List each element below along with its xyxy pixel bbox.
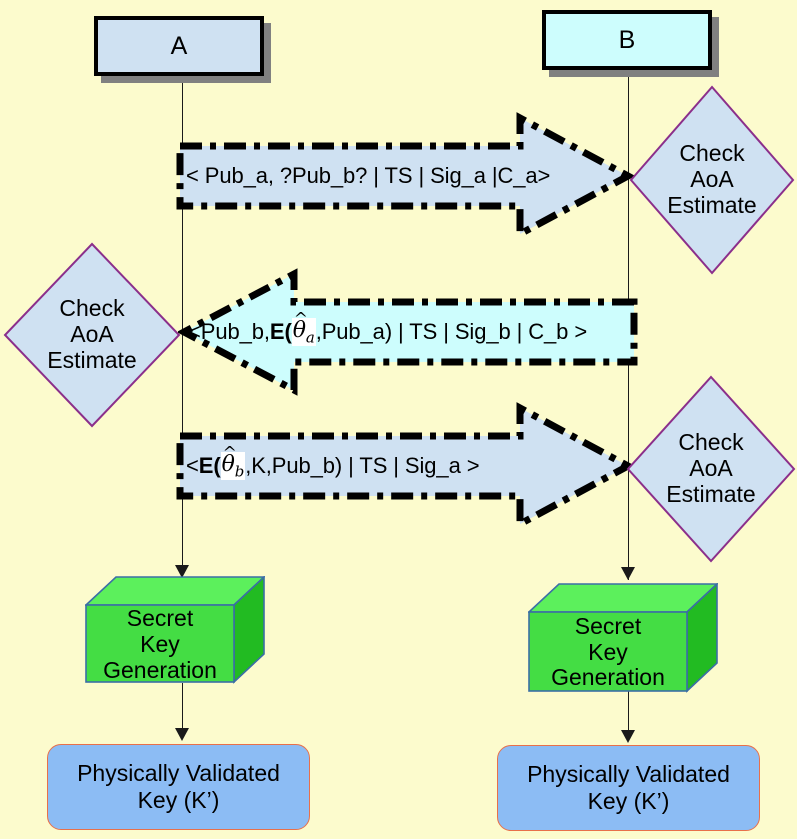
check-aoa-b-1-label: Check AoA Estimate <box>629 85 795 275</box>
check-line-3: Estimate <box>667 193 756 219</box>
check-line-1: Check <box>678 430 743 456</box>
message-2-suffix: ,Pub_a) | TS | Sig_b | C_b > <box>316 319 587 345</box>
keygen-cube-a-label: Secret Key Generation <box>86 605 234 682</box>
check-line-1: Check <box>679 141 744 167</box>
keygen-line-2: Key <box>140 631 180 657</box>
result-box-b[interactable]: Physically Validated Key (K’) <box>497 745 760 831</box>
message-1[interactable]: < Pub_a, ?Pub_b? | TS | Sig_a |C_a> <box>176 112 634 240</box>
check-aoa-b-2-label: Check AoA Estimate <box>626 375 796 563</box>
message-3-theta-subscript: b <box>235 462 244 480</box>
message-1-text: < Pub_a, ?Pub_b? | TS | Sig_a |C_a> <box>186 163 550 189</box>
check-line-3: Estimate <box>666 482 755 508</box>
protocol-diagram: A B < Pub_a, ?Pub_b? | TS | Sig_a |C_a> … <box>0 0 797 839</box>
keygen-line-1: Secret <box>575 613 641 639</box>
message-2[interactable]: <Pub_b, E(^θa,Pub_a) | TS | Sig_b | C_b … <box>178 268 638 396</box>
keygen-line-1: Secret <box>127 605 193 631</box>
actor-label-b: B <box>619 26 636 55</box>
actor-box-a[interactable]: A <box>94 16 264 76</box>
message-2-prefix: <Pub_b, <box>188 319 270 345</box>
hat-accent: ^ <box>223 443 237 463</box>
result-line-2: Key (K’) <box>138 787 220 814</box>
message-2-theta-hat: ^θa <box>292 318 316 346</box>
check-line-2: AoA <box>689 456 732 482</box>
connector-a-arrowhead <box>175 728 189 741</box>
message-2-theta-subscript: a <box>306 328 315 346</box>
message-3[interactable]: < E(^θb,K,Pub_b) | TS | Sig_a > <box>176 402 634 530</box>
message-3-bold: E( <box>199 453 221 479</box>
message-1-label: < Pub_a, ?Pub_b? | TS | Sig_a |C_a> <box>186 112 616 240</box>
result-line-2: Key (K’) <box>588 788 670 815</box>
message-3-label: < E(^θb,K,Pub_b) | TS | Sig_a > <box>186 402 616 530</box>
result-line-1: Physically Validated <box>77 760 280 787</box>
check-line-1: Check <box>59 296 124 322</box>
result-line-1: Physically Validated <box>527 761 730 788</box>
check-line-3: Estimate <box>47 348 136 374</box>
keygen-cube-a[interactable]: Secret Key Generation <box>85 576 265 684</box>
lifeline-b-arrowhead <box>621 567 635 580</box>
keygen-line-2: Key <box>588 639 628 665</box>
actor-label-a: A <box>171 32 188 61</box>
keygen-cube-b-label: Secret Key Generation <box>529 612 687 691</box>
keygen-line-3: Generation <box>551 664 665 690</box>
connector-b-arrowhead <box>621 730 635 743</box>
keygen-line-3: Generation <box>103 657 217 683</box>
check-aoa-b-2[interactable]: Check AoA Estimate <box>626 375 796 563</box>
hat-accent: ^ <box>294 309 308 329</box>
message-2-bold: E( <box>270 319 292 345</box>
check-aoa-a-1[interactable]: Check AoA Estimate <box>3 242 181 428</box>
keygen-cube-b[interactable]: Secret Key Generation <box>528 583 718 693</box>
result-box-a[interactable]: Physically Validated Key (K’) <box>47 744 310 830</box>
message-3-theta-hat: ^θb <box>221 452 246 480</box>
actor-box-b[interactable]: B <box>542 10 712 70</box>
check-aoa-a-1-label: Check AoA Estimate <box>3 242 181 428</box>
message-3-prefix: < <box>186 453 199 479</box>
check-line-2: AoA <box>70 322 113 348</box>
message-3-suffix: ,K,Pub_b) | TS | Sig_a > <box>245 453 479 479</box>
check-line-2: AoA <box>690 167 733 193</box>
check-aoa-b-1[interactable]: Check AoA Estimate <box>629 85 795 275</box>
message-2-label: <Pub_b, E(^θa,Pub_a) | TS | Sig_b | C_b … <box>188 268 632 396</box>
